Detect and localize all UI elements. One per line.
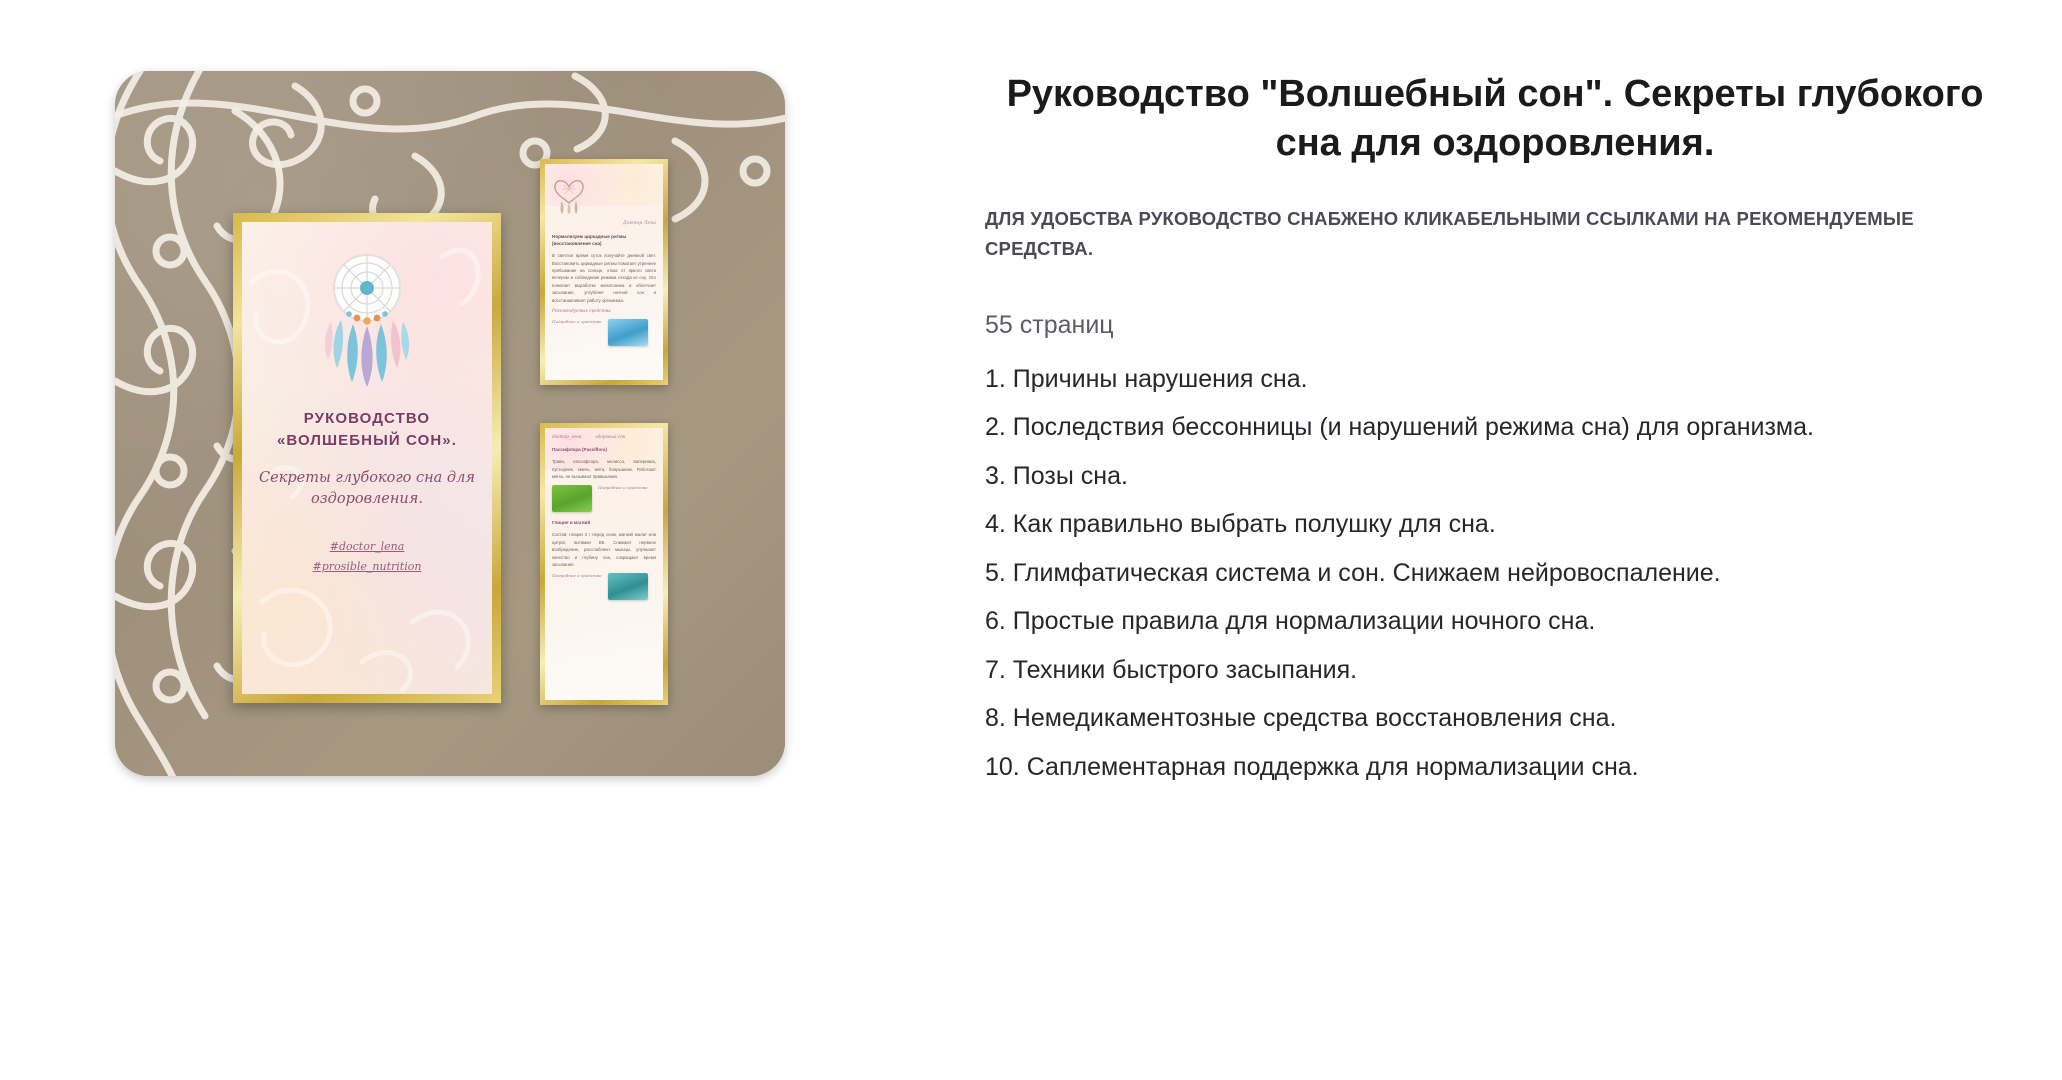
preview-page-2-inner: доктор_лена здоровый сон Пассифлора (Pas… (545, 428, 663, 700)
toc-item: 1. Причины нарушения сна. (985, 359, 1995, 400)
preview-1-product-row: Подробнее о средстве (552, 319, 656, 346)
guide-cover: РУКОВОДСТВО «ВОЛШЕБНЫЙ СОН». Секреты глу… (233, 213, 501, 703)
cover-title-line-1: РУКОВОДСТВО (277, 408, 457, 430)
toc-item: 5. Глимфатическая система и сон. Снижаем… (985, 553, 1995, 594)
preview-2-product-row-1: Подробнее о средстве (552, 485, 656, 512)
preview-1-heading: Нормализуем циркадные ритмы (восстановле… (552, 233, 656, 247)
preview-2-product-caption-1: Подробнее о средстве (598, 485, 648, 491)
preview-2-product-row-2: Подробнее о средстве (552, 573, 656, 600)
landing-page: РУКОВОДСТВО «ВОЛШЕБНЫЙ СОН». Секреты глу… (0, 0, 2062, 1080)
toc-item: 2. Последствия бессонницы (и нарушений р… (985, 407, 1995, 448)
preview-2-tabs: доктор_лена здоровый сон (552, 434, 656, 439)
preview-1-author: Доктор Лена (552, 221, 656, 226)
preview-2-tab-2: здоровый сон (595, 434, 625, 439)
preview-2-product-image-2 (608, 573, 648, 600)
guide-cover-inner: РУКОВОДСТВО «ВОЛШЕБНЫЙ СОН». Секреты глу… (242, 222, 492, 694)
product-mockup-image: РУКОВОДСТВО «ВОЛШЕБНЫЙ СОН». Секреты глу… (115, 71, 785, 776)
toc-item: 8. Немедикаментозные средства восстановл… (985, 698, 1995, 739)
preview-2-heading-2: Глицин и магний (552, 519, 656, 526)
preview-2-heading-1: Пассифлора (Passiflora) (552, 446, 656, 453)
product-description: Руководство "Волшебный сон". Секреты глу… (985, 70, 2005, 795)
lead-paragraph: ДЛЯ УДОБСТВА РУКОВОДСТВО СНАБЖЕНО КЛИКАБ… (985, 204, 1950, 264)
preview-1-product-caption: Подробнее о средстве (552, 319, 602, 325)
preview-1-link: Рекомендуемые средства (552, 308, 656, 314)
cover-title: РУКОВОДСТВО «ВОЛШЕБНЫЙ СОН». (277, 408, 457, 452)
toc-item: 4. Как правильно выбрать полушку для сна… (985, 504, 1995, 545)
table-of-contents: 1. Причины нарушения сна. 2. Последствия… (985, 359, 2005, 788)
preview-2-tab-1: доктор_лена (552, 434, 581, 439)
cover-handle-2: #prosible_nutrition (313, 557, 422, 577)
preview-page-2: доктор_лена здоровый сон Пассифлора (Pas… (540, 423, 668, 705)
toc-item: 6. Простые правила для нормализации ночн… (985, 601, 1995, 642)
cover-subtitle: Секреты глубокого сна для оздоровления. (255, 468, 480, 512)
page-title: Руководство "Волшебный сон". Секреты глу… (985, 70, 2005, 167)
preview-page-1: Доктор Лена Нормализуем циркадные ритмы … (540, 159, 668, 385)
toc-item: 7. Техники быстрого засыпания. (985, 650, 1995, 691)
toc-item: 3. Позы сна. (985, 456, 1995, 497)
preview-2-product-image-1 (552, 485, 592, 512)
preview-1-body: В светлое время суток получайте дневной … (552, 252, 656, 304)
dreamcatcher-icon (311, 248, 423, 388)
preview-2-body-1: Трава, пассифлора, мелисса, валериана, п… (552, 458, 656, 480)
preview-2-body-2: Состав: глицин 3 г перед сном, магний ма… (552, 531, 656, 568)
toc-item: 10. Саплементарная поддержка для нормали… (985, 747, 1995, 788)
page-count-label: 55 страниц (985, 306, 2005, 345)
preview-2-product-caption-2: Подробнее о средстве (552, 573, 602, 579)
cover-title-line-2: «ВОЛШЕБНЫЙ СОН». (277, 430, 457, 452)
preview-page-1-inner: Доктор Лена Нормализуем циркадные ритмы … (545, 164, 663, 380)
cover-handle-1: #doctor_lena (313, 537, 422, 557)
preview-1-product-image (608, 319, 648, 346)
cover-handles: #doctor_lena #prosible_nutrition (313, 537, 422, 578)
heart-dreamcatcher-icon (552, 170, 586, 214)
